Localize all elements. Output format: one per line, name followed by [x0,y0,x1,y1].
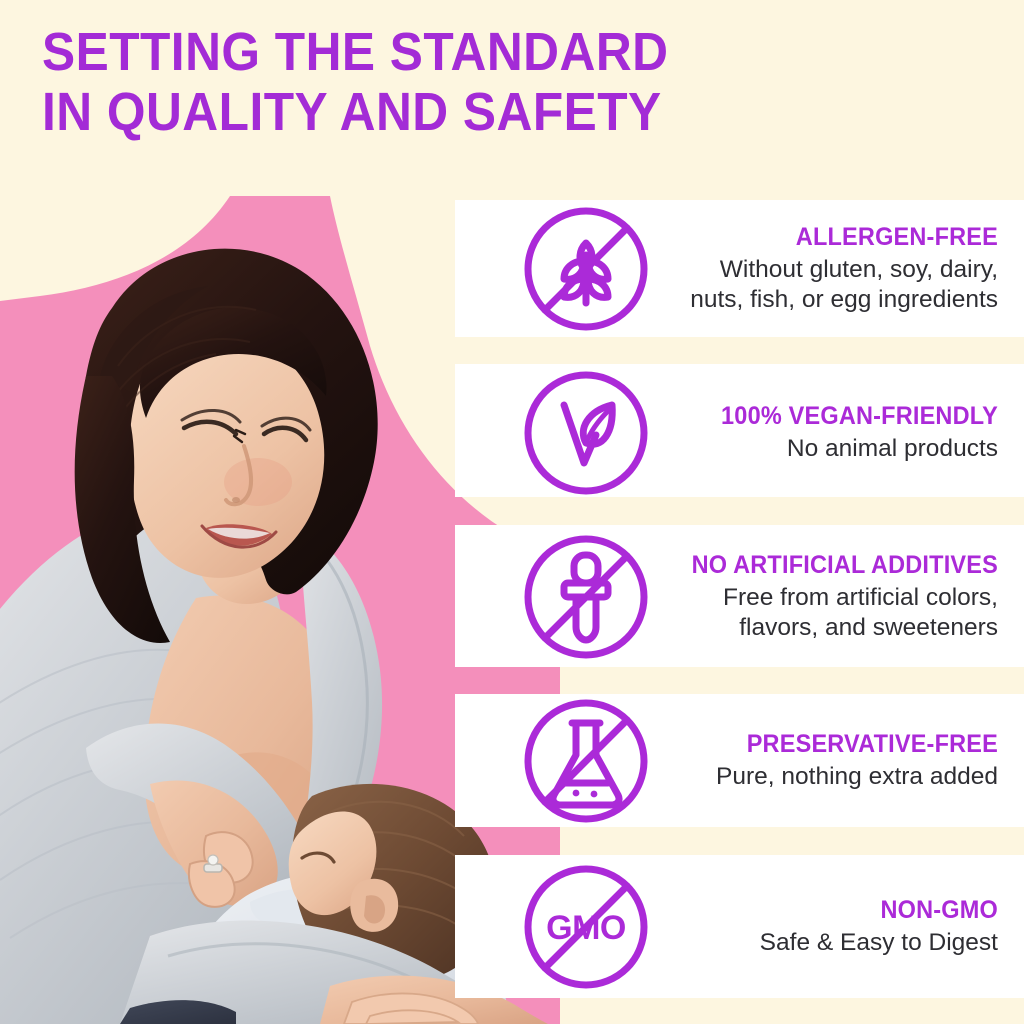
feature-row-allergen-free: Allergen-Free Without gluten, soy, dairy… [512,200,1024,337]
feature-text: Preservative-Free Pure, nothing extra ad… [656,729,1024,792]
no-wheat-icon [516,199,656,339]
page-title-line-2: in Quality and Safety [42,82,686,142]
feature-row-preservative-free: Preservative-Free Pure, nothing extra ad… [512,692,1024,829]
feature-title: No Artificial Additives [686,550,998,580]
page-title-line-1: Setting the Standard [42,22,686,82]
no-flask-icon [516,691,656,831]
non-gmo-icon: GMO [516,857,656,997]
feature-title: 100% Vegan-Friendly [686,401,998,431]
feature-row-no-artificial-additives: No Artificial Additives Free from artifi… [512,528,1024,665]
feature-row-non-gmo: GMO Non-GMO Safe & Easy to Digest [512,858,1024,995]
no-dropper-icon [516,527,656,667]
feature-text: No Artificial Additives Free from artifi… [656,550,1024,643]
vegan-leaf-icon [516,363,656,503]
feature-description: Pure, nothing extra added [666,762,998,792]
feature-row-vegan-friendly: 100% Vegan-Friendly No animal products [512,364,1024,501]
mother-breastfeeding-baby-photo [0,196,560,1024]
feature-description: Without gluten, soy, dairy, nuts, fish, … [666,255,998,315]
infographic-canvas: Setting the Standard in Quality and Safe… [0,0,1024,1024]
feature-description: Safe & Easy to Digest [666,928,998,958]
feature-text: Allergen-Free Without gluten, soy, dairy… [656,222,1024,315]
feature-text: Non-GMO Safe & Easy to Digest [656,895,1024,958]
svg-text:GMO: GMO [546,909,626,947]
feature-description: No animal products [666,434,998,464]
feature-title: Allergen-Free [686,222,998,252]
feature-title: Preservative-Free [686,729,998,759]
feature-title: Non-GMO [686,895,998,925]
page-title: Setting the Standard in Quality and Safe… [42,22,742,143]
feature-text: 100% Vegan-Friendly No animal products [656,401,1024,464]
feature-description: Free from artificial colors, flavors, an… [666,583,998,643]
